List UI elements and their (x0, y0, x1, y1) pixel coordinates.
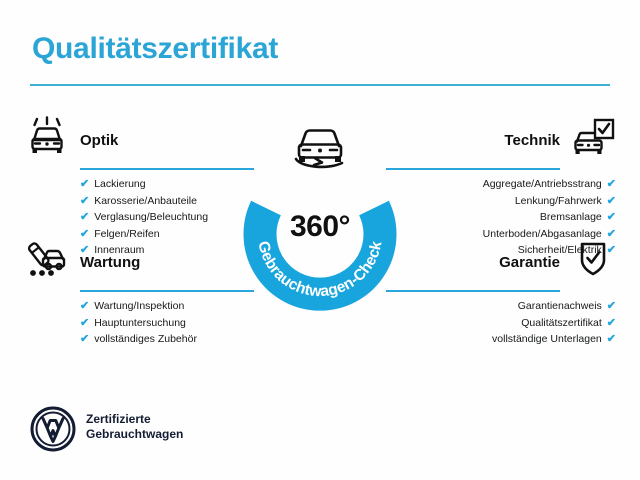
list-item-label: Bremsanlage (540, 211, 602, 223)
footer-line-2: Gebrauchtwagen (86, 427, 183, 442)
check-icon: ✔ (80, 298, 89, 315)
list-item: Bremsanlage✔ (386, 209, 616, 226)
list-item: vollständige Unterlagen✔ (386, 331, 616, 348)
check-icon: ✔ (607, 209, 616, 226)
list-item: Qualitätszertifikat✔ (386, 315, 616, 332)
section-garantie: Garantie Garantienachweis✔ Qualitätszert… (386, 254, 616, 348)
section-underline-optik (80, 168, 254, 170)
check-icon: ✔ (80, 315, 89, 332)
check-icon: ✔ (80, 209, 89, 226)
check-icon: ✔ (607, 298, 616, 315)
list-item: ✔Lackierung (80, 176, 254, 193)
section-underline-technik (386, 168, 560, 170)
list-item-label: Wartung/Inspektion (94, 300, 184, 312)
section-header-wartung: Wartung (24, 254, 254, 298)
badge-center-label: 360° (236, 210, 404, 244)
footer-logo-block: Zertifizierte Gebrauchtwagen (30, 404, 260, 456)
section-header-optik: Optik (24, 132, 254, 176)
list-item-label: vollständige Unterlagen (492, 333, 602, 345)
shield-check-icon (570, 238, 616, 278)
check-icon: ✔ (607, 193, 616, 210)
section-underline-wartung (80, 290, 254, 292)
section-title-technik: Technik (386, 132, 560, 150)
section-title-optik: Optik (80, 132, 254, 150)
checklist-wartung: ✔Wartung/Inspektion ✔Hauptuntersuchung ✔… (80, 298, 254, 348)
list-item: ✔Verglasung/Beleuchtung (80, 209, 254, 226)
page-title: Qualitätszertifikat (32, 32, 278, 66)
list-item-label: Felgen/Reifen (94, 228, 159, 240)
check-icon: ✔ (80, 176, 89, 193)
check-icon: ✔ (80, 193, 89, 210)
footer-line-1: Zertifizierte (86, 412, 183, 427)
check-icon: ✔ (607, 176, 616, 193)
list-item-label: Aggregate/Antriebsstrang (483, 178, 602, 190)
list-item-label: Lackierung (94, 178, 145, 190)
section-title-garantie: Garantie (386, 254, 560, 272)
list-item: Lenkung/Fahrwerk✔ (386, 193, 616, 210)
section-wartung: Wartung ✔Wartung/Inspektion ✔Hauptunters… (24, 254, 254, 348)
section-header-garantie: Garantie (386, 254, 616, 298)
section-header-technik: Technik (386, 132, 616, 176)
check-icon: ✔ (607, 315, 616, 332)
list-item-label: Karosserie/Anbauteile (94, 195, 197, 207)
list-item: ✔Felgen/Reifen (80, 226, 254, 243)
list-item-label: vollständiges Zubehör (94, 333, 197, 345)
list-item-label: Hauptuntersuchung (94, 317, 186, 329)
car-checkbox-icon (570, 116, 616, 156)
list-item: ✔Karosserie/Anbauteile (80, 193, 254, 210)
vw-logo (30, 406, 76, 452)
footer-text: Zertifizierte Gebrauchtwagen (86, 412, 183, 442)
list-item: Garantienachweis✔ (386, 298, 616, 315)
checklist-optik: ✔Lackierung ✔Karosserie/Anbauteile ✔Verg… (80, 176, 254, 259)
car-shine-icon (24, 116, 70, 156)
list-item-label: Garantienachweis (518, 300, 602, 312)
qualitaetszertifikat-document: Qualitätszertifikat (0, 0, 640, 480)
list-item: ✔Hauptuntersuchung (80, 315, 254, 332)
check-icon: ✔ (607, 331, 616, 348)
list-item-label: Verglasung/Beleuchtung (94, 211, 208, 223)
list-item: ✔Wartung/Inspektion (80, 298, 254, 315)
check-icon: ✔ (80, 331, 89, 348)
checklist-garantie: Garantienachweis✔ Qualitätszertifikat✔ v… (386, 298, 616, 348)
list-item-label: Lenkung/Fahrwerk (515, 195, 602, 207)
badge-360-gebrauchtwagen-check: Gebrauchtwagen-Check 360° (236, 150, 404, 318)
list-item: Aggregate/Antriebsstrang✔ (386, 176, 616, 193)
car-lift-wrench-icon (24, 238, 70, 278)
list-item: ✔vollständiges Zubehör (80, 331, 254, 348)
section-title-wartung: Wartung (80, 254, 254, 272)
list-item-label: Qualitätszertifikat (521, 317, 602, 329)
check-icon: ✔ (80, 226, 89, 243)
header-divider (30, 84, 610, 86)
section-underline-garantie (386, 290, 560, 292)
car-rotation-360-icon (284, 118, 356, 176)
